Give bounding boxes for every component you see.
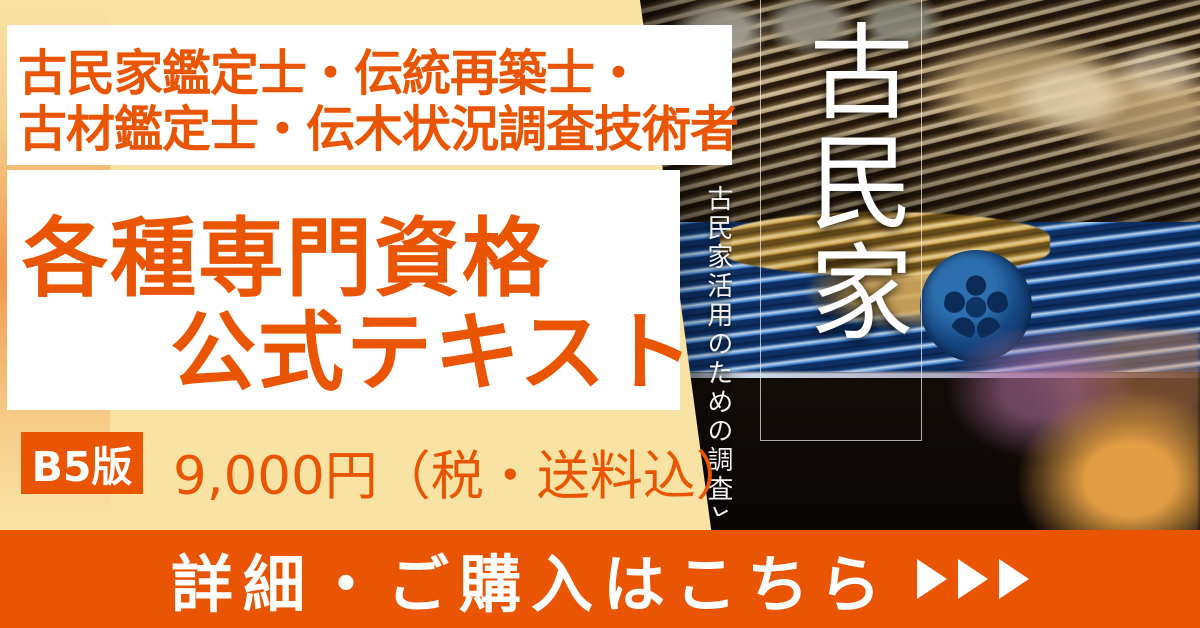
qualifications-line-2: 古材鑑定士・伝木状況調査技術者 — [18, 90, 738, 161]
headline-line-2: 公式テキスト — [170, 282, 695, 407]
cta-arrows — [917, 559, 1029, 599]
promo-banner: 古民家 伝統構法 古民家活用のための調査と再生の 古民家鑑定士・伝統再築士・ 古… — [0, 0, 1200, 628]
triangle-right-icon — [999, 559, 1029, 599]
cover-vertical-title: 古民家 — [770, 18, 910, 348]
cta-label: 詳細・ご購入はこちら — [171, 534, 891, 624]
triangle-right-icon — [958, 559, 988, 599]
cta-bar[interactable]: 詳細・ご購入はこちら — [0, 530, 1200, 628]
price-text: 9,000円（税・送料込） — [173, 434, 749, 510]
triangle-right-icon — [917, 559, 947, 599]
format-badge: B5版 — [21, 432, 143, 494]
